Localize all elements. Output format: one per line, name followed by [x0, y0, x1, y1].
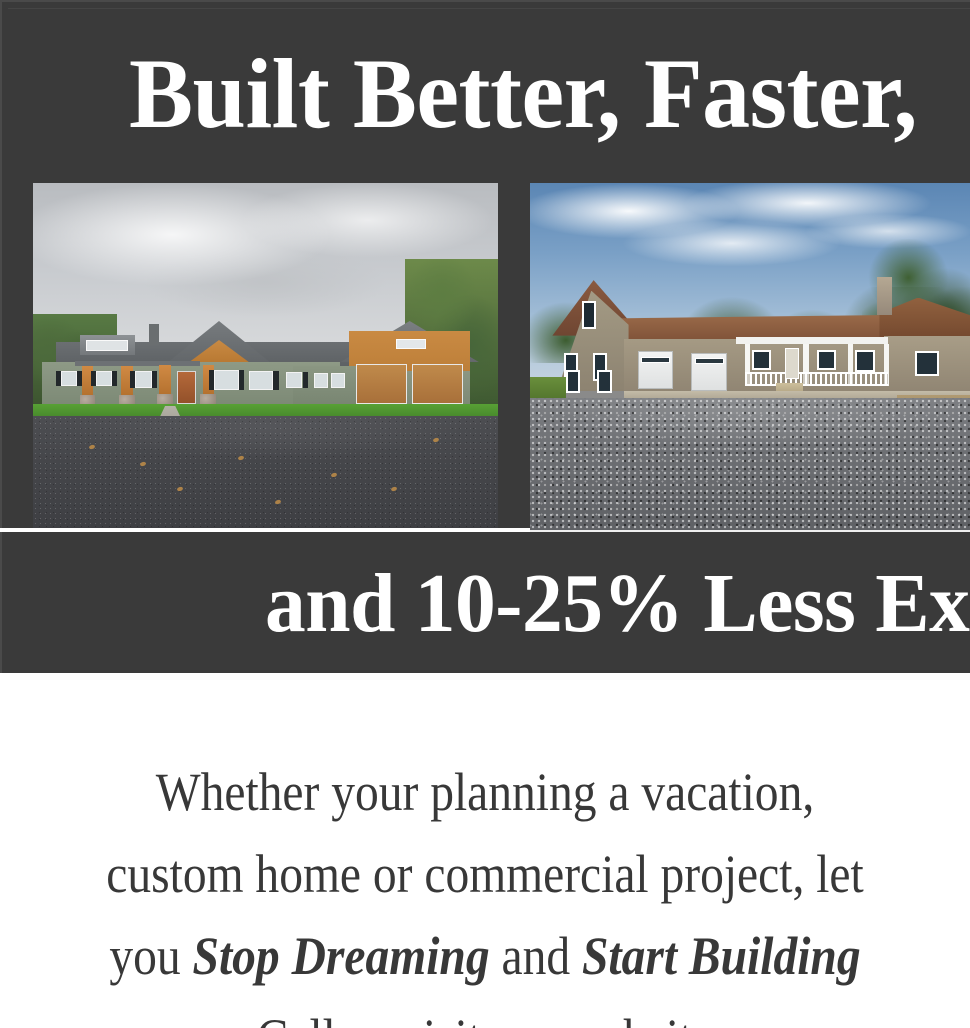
shutter-1a: [56, 371, 61, 386]
shutter-1b: [77, 371, 82, 386]
body-line-4: Call or visit our website: [58, 1011, 912, 1028]
garage-door-right: [412, 364, 463, 404]
hero-top-edge: [0, 0, 970, 2]
photo-baseline-rule: [0, 528, 530, 532]
window-7: [314, 373, 328, 388]
garage-gable-window: [396, 339, 426, 349]
front-door: [177, 371, 196, 404]
body-line-3-prefix: you: [109, 926, 192, 986]
gable-window: [582, 301, 596, 329]
hero-inner-edge: [8, 8, 970, 9]
body-copy-section: Whether your planning a vacation, custom…: [0, 673, 970, 1028]
window-porch-right: [855, 350, 876, 372]
body-line-3: you Stop Dreaming and Start Building: [58, 929, 912, 983]
body-line-1: Whether your planning a vacation,: [58, 765, 912, 819]
chimney: [877, 277, 892, 315]
shutter-6b: [303, 372, 308, 388]
hero-left-edge: [0, 0, 2, 673]
body-line-3-middle: and: [490, 926, 582, 986]
shutter-4b: [239, 370, 244, 389]
porch-railing: [745, 372, 888, 386]
headline-line-1: Built Better, Faster,: [129, 44, 917, 144]
flyer-page: Built Better, Faster,: [0, 0, 970, 1028]
photo-craftsman-ranch-home-scene: [33, 183, 498, 528]
window-gable-side-2: [597, 370, 611, 392]
garage-door-left-lights: [641, 357, 670, 363]
shutter-4a: [209, 370, 214, 389]
emphasis-stop-dreaming: Stop Dreaming: [193, 926, 490, 986]
gravel-texture: [530, 398, 970, 530]
window-8: [331, 373, 345, 388]
window-4: [214, 370, 238, 389]
chimney: [149, 324, 159, 345]
body-line-2: custom home or commercial project, let: [58, 847, 912, 901]
photo-baseline-rule-right: [530, 530, 970, 532]
window-3: [135, 371, 152, 388]
window-porch-left: [752, 350, 772, 371]
window-1: [61, 371, 77, 386]
garage-door-right-lights: [695, 358, 724, 364]
window-porch-mid: [817, 350, 836, 371]
hero-panel: Built Better, Faster,: [0, 0, 970, 673]
shutter-3a: [130, 371, 135, 388]
emphasis-start-building: Start Building: [582, 926, 861, 986]
dormer-window: [86, 340, 128, 350]
photo-craftsman-ranch-home: [33, 183, 498, 528]
window-right-wing: [915, 351, 939, 375]
photo-tan-ranch-home-scene: [530, 183, 970, 530]
window-gable-side-1: [566, 370, 580, 392]
photo-tan-ranch-home: [530, 183, 970, 530]
asphalt-texture: [33, 416, 498, 528]
porch-roof: [75, 361, 201, 367]
shutter-3b: [152, 371, 157, 388]
shutter-2a: [91, 371, 96, 386]
shutter-2b: [112, 371, 117, 386]
window-5: [249, 371, 273, 390]
front-door: [785, 348, 798, 379]
window-2: [96, 371, 112, 386]
headline-line-2: and 10-25% Less Expensive: [265, 562, 970, 646]
garage-door-left: [356, 364, 407, 404]
window-6: [286, 372, 302, 388]
porch-column-3: [159, 365, 170, 396]
shutter-5b: [273, 371, 278, 390]
porch-roof: [736, 337, 888, 344]
